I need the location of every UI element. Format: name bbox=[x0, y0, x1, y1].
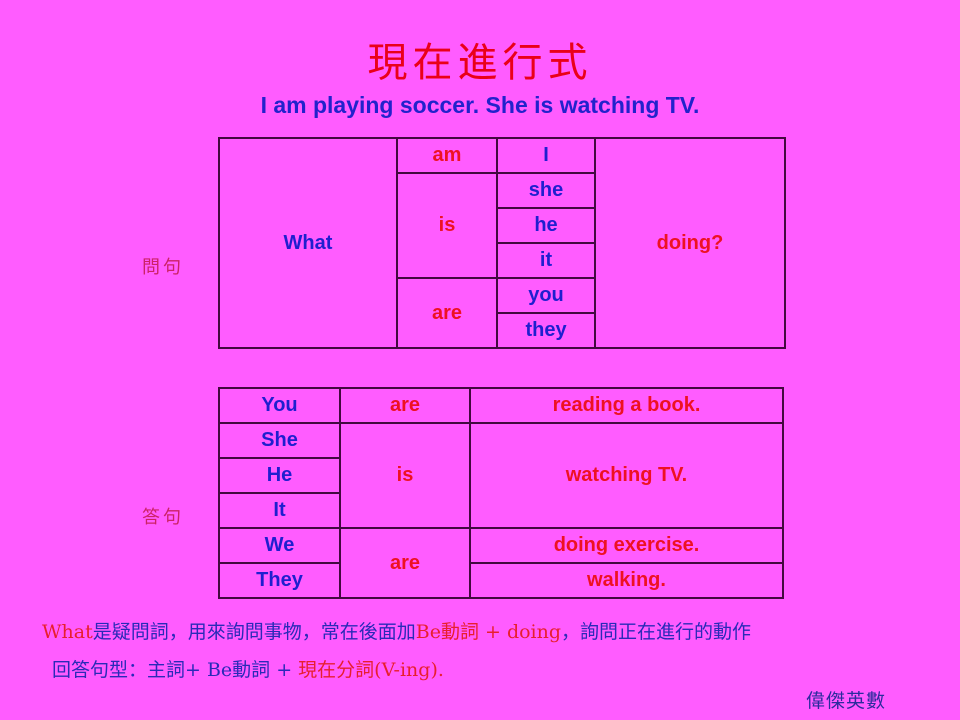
page-subtitle: I am playing soccer. She is watching TV. bbox=[0, 92, 960, 119]
cell-be-am: am bbox=[397, 138, 497, 173]
note2-pattern-a: 回答句型：主詞+ Be動詞 + bbox=[52, 659, 298, 681]
cell-answer-subject-we: We bbox=[219, 528, 340, 563]
note1-what: What bbox=[42, 621, 93, 643]
question-structure-table: What am I doing? is she he it are you th… bbox=[218, 137, 786, 349]
cell-answer-subject-he: He bbox=[219, 458, 340, 493]
answer-structure-table: You are reading a book. She is watching … bbox=[218, 387, 784, 599]
label-question-sentence: 問句 bbox=[142, 253, 184, 279]
cell-be-is: is bbox=[397, 173, 497, 278]
cell-what: What bbox=[219, 138, 397, 348]
note-line-2: 回答句型：主詞+ Be動詞 + 現在分詞(V-ing). bbox=[52, 658, 444, 682]
note2-pattern-b: 現在分詞(V-ing). bbox=[298, 659, 444, 681]
cell-subject-they: they bbox=[497, 313, 595, 348]
cell-answer-be-are-1: are bbox=[340, 388, 470, 423]
table-row: What am I doing? bbox=[219, 138, 785, 173]
cell-answer-subject-she: She bbox=[219, 423, 340, 458]
table-row: She is watching TV. bbox=[219, 423, 783, 458]
note1-explanation-a: 是疑問詞，用來詢問事物，常在後面加 bbox=[93, 621, 416, 643]
cell-subject-you: you bbox=[497, 278, 595, 313]
table-row: We are doing exercise. bbox=[219, 528, 783, 563]
cell-doing: doing? bbox=[595, 138, 785, 348]
note1-formula: Be動詞 + doing bbox=[416, 621, 561, 643]
note-line-1: What是疑問詞，用來詢問事物，常在後面加Be動詞 + doing，詢問正在進行… bbox=[42, 620, 751, 644]
cell-subject-i: I bbox=[497, 138, 595, 173]
label-answer-sentence: 答句 bbox=[142, 503, 184, 529]
table-row: They walking. bbox=[219, 563, 783, 598]
cell-answer-subject-it: It bbox=[219, 493, 340, 528]
cell-answer-subject-you: You bbox=[219, 388, 340, 423]
cell-answer-verb-walking: walking. bbox=[470, 563, 783, 598]
cell-subject-he: he bbox=[497, 208, 595, 243]
cell-subject-she: she bbox=[497, 173, 595, 208]
cell-answer-verb-exercise: doing exercise. bbox=[470, 528, 783, 563]
footer-signature: 偉傑英數 bbox=[806, 686, 886, 713]
slide-canvas: 現在進行式 I am playing soccer. She is watchi… bbox=[0, 0, 960, 720]
cell-answer-be-are-2: are bbox=[340, 528, 470, 598]
cell-be-are: are bbox=[397, 278, 497, 348]
cell-answer-verb-watching: watching TV. bbox=[470, 423, 783, 528]
note1-explanation-b: ，詢問正在進行的動作 bbox=[561, 621, 751, 643]
cell-answer-subject-they: They bbox=[219, 563, 340, 598]
page-title: 現在進行式 bbox=[0, 40, 960, 86]
cell-answer-be-is: is bbox=[340, 423, 470, 528]
table-row: You are reading a book. bbox=[219, 388, 783, 423]
cell-subject-it: it bbox=[497, 243, 595, 278]
cell-answer-verb-reading: reading a book. bbox=[470, 388, 783, 423]
